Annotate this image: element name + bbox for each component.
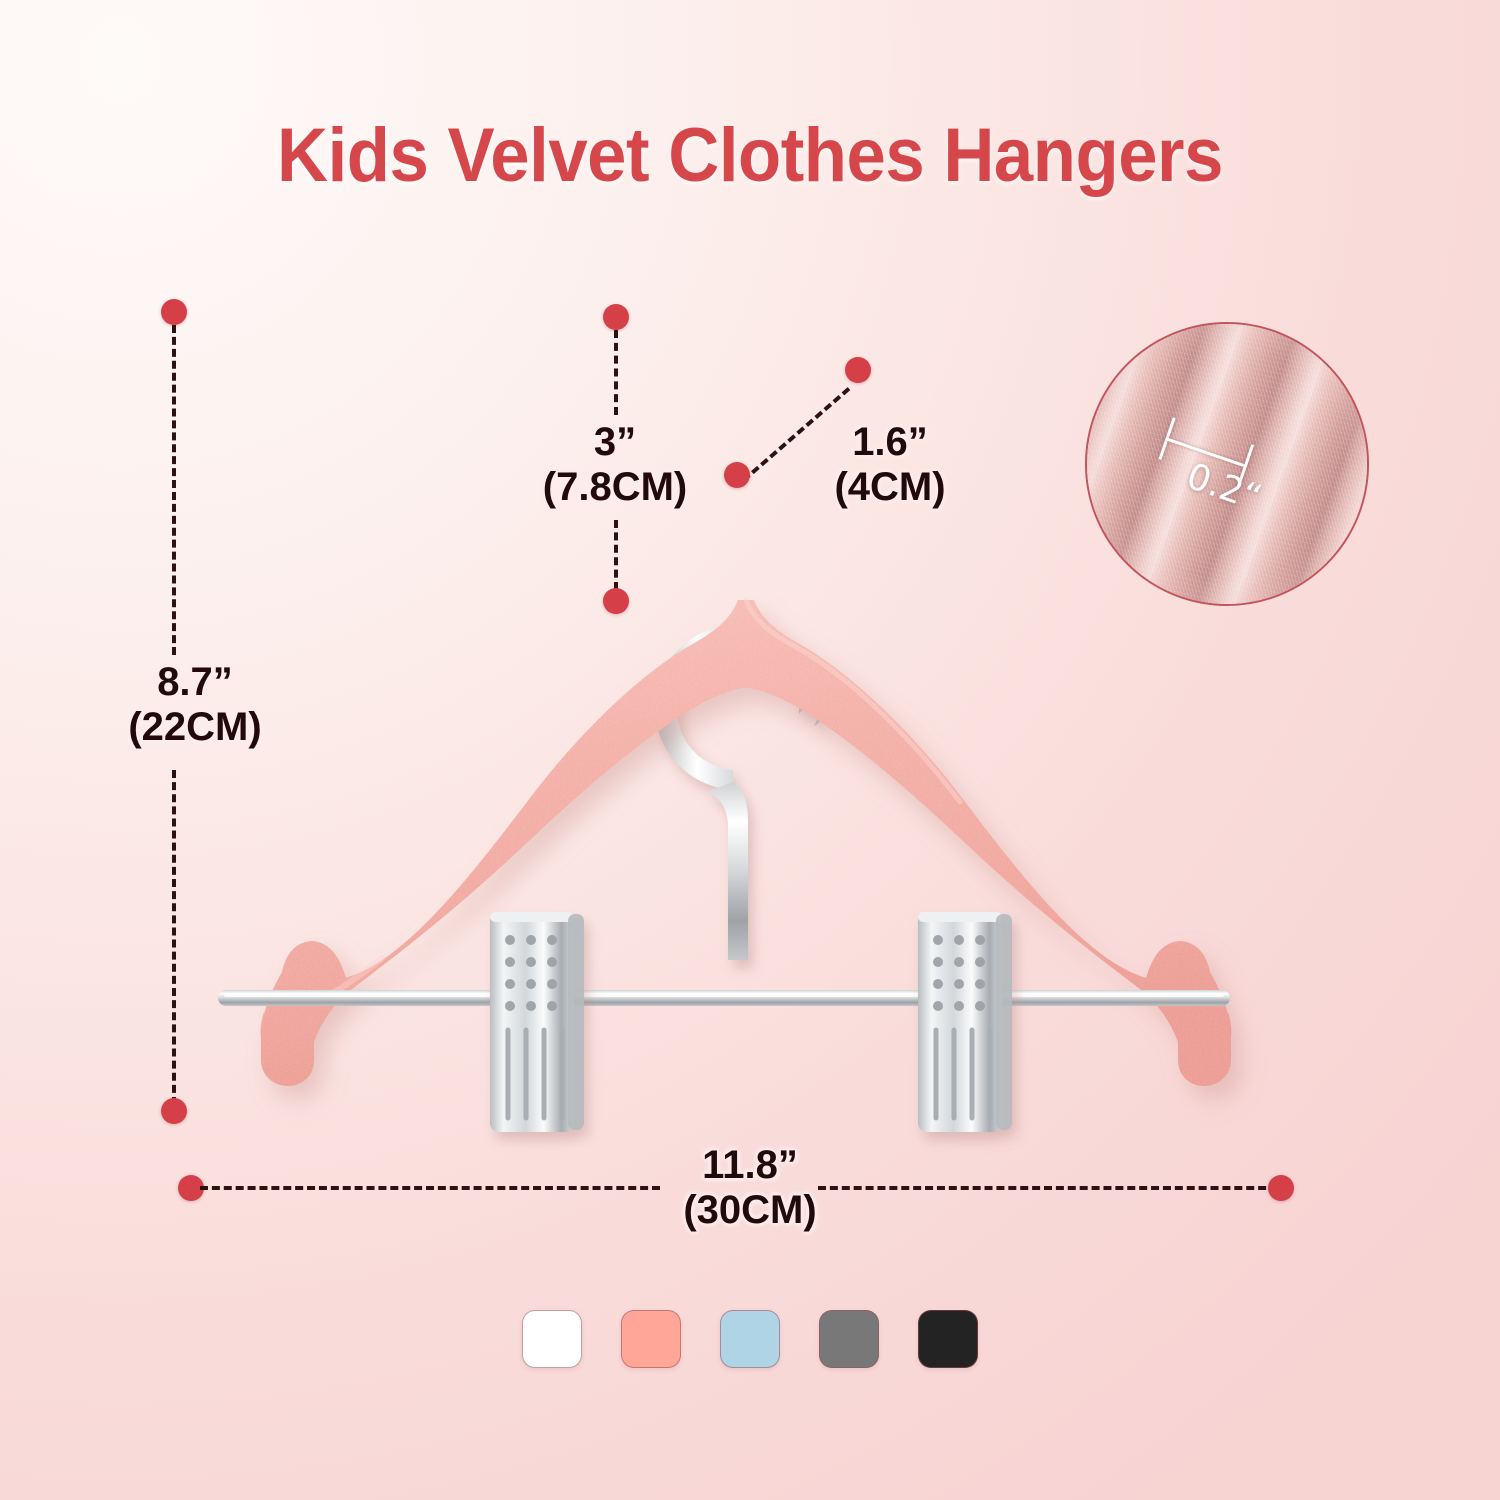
- hanger-clip-left: [490, 912, 584, 1132]
- hanger-illustration: [150, 300, 1350, 1180]
- width-dim-cm: (30CM): [635, 1188, 865, 1233]
- color-swatch-row: [0, 1310, 1500, 1368]
- page-title: Kids Velvet Clothes Hangers: [53, 112, 1448, 199]
- color-swatch-pink[interactable]: [621, 1310, 681, 1368]
- color-swatch-white[interactable]: [522, 1310, 582, 1368]
- width-dim-dot-right: [1268, 1175, 1294, 1201]
- hanger-clip-right: [918, 912, 1012, 1132]
- width-dim-line-left: [200, 1186, 660, 1190]
- color-swatch-black[interactable]: [918, 1310, 978, 1368]
- width-dim-inch: 11.8”: [702, 1143, 798, 1187]
- color-swatch-light-blue[interactable]: [720, 1310, 780, 1368]
- product-infographic: Kids Velvet Clothes Hangers 8.7” (22CM) …: [0, 0, 1500, 1500]
- hanger-crossbar: [218, 990, 1230, 1006]
- color-swatch-gray[interactable]: [819, 1310, 879, 1368]
- width-dim-line-right: [818, 1186, 1278, 1190]
